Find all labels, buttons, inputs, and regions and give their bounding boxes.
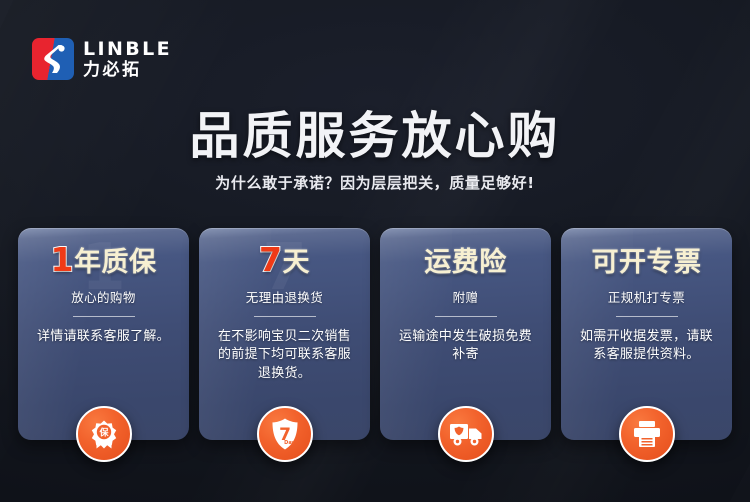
card-title-rest: 天 xyxy=(282,247,310,278)
card-title: 7天 xyxy=(209,242,360,278)
card-divider xyxy=(254,316,316,317)
svg-text:Day: Day xyxy=(284,440,295,446)
card-body-text: 详情请联系客服了解。 xyxy=(28,328,179,347)
service-card-invoice[interactable]: 可开专票 正规机打专票 如需开收据发票，请联系客服提供资料。 xyxy=(561,228,732,440)
printer-invoice-icon xyxy=(619,406,675,462)
card-title: 1年质保 xyxy=(28,242,179,278)
service-card-returns[interactable]: 7 7天 无理由退换货 在不影响宝贝二次销售的前提下均可联系客服退换货。 7 D… xyxy=(199,228,370,440)
card-subtitle: 无理由退换货 xyxy=(209,287,360,306)
card-divider xyxy=(616,316,678,317)
card-title-rest: 可开专票 xyxy=(592,247,702,278)
page-subtitle: 为什么敢于承诺？因为层层把关，质量足够好! xyxy=(0,172,750,193)
card-body-text: 运输途中发生破损免费补寄 xyxy=(390,328,541,366)
guarantee-seal-icon: 保 xyxy=(76,406,132,462)
svg-text:保: 保 xyxy=(98,427,109,439)
delivery-truck-icon xyxy=(438,406,494,462)
card-subtitle: 放心的购物 xyxy=(28,287,179,306)
service-card-warranty[interactable]: 1 1年质保 放心的购物 详情请联系客服了解。 保 xyxy=(18,228,189,440)
card-title-highlight: 1 xyxy=(51,240,74,279)
card-body-text: 在不影响宝贝二次销售的前提下均可联系客服退换货。 xyxy=(209,328,360,385)
card-subtitle: 附赠 xyxy=(390,287,541,306)
card-title-rest: 运费险 xyxy=(424,247,507,278)
page-title: 品质服务放心购 xyxy=(0,96,750,168)
card-divider xyxy=(435,316,497,317)
service-card-shipping-insurance[interactable]: 运费险 附赠 运输途中发生破损免费补寄 xyxy=(380,228,551,440)
service-card-list: 1 1年质保 放心的购物 详情请联系客服了解。 保 7 xyxy=(18,228,732,440)
card-divider xyxy=(73,316,135,317)
promo-banner: LINBLE 力必拓 品质服务放心购 为什么敢于承诺？因为层层把关，质量足够好!… xyxy=(0,0,750,502)
brand-logo[interactable]: LINBLE 力必拓 xyxy=(32,38,172,80)
card-title-rest: 年质保 xyxy=(74,247,157,278)
brand-name-cn: 力必拓 xyxy=(83,62,172,79)
card-title: 运费险 xyxy=(390,242,541,278)
card-body-text: 如需开收据发票，请联系客服提供资料。 xyxy=(571,328,722,366)
card-title-highlight: 7 xyxy=(259,240,282,279)
card-subtitle: 正规机打专票 xyxy=(571,287,722,306)
card-title: 可开专票 xyxy=(571,242,722,278)
brand-name-en: LINBLE xyxy=(83,40,172,59)
shield-7day-icon: 7 Day xyxy=(257,406,313,462)
linble-running-figure-logo-icon xyxy=(32,38,74,80)
